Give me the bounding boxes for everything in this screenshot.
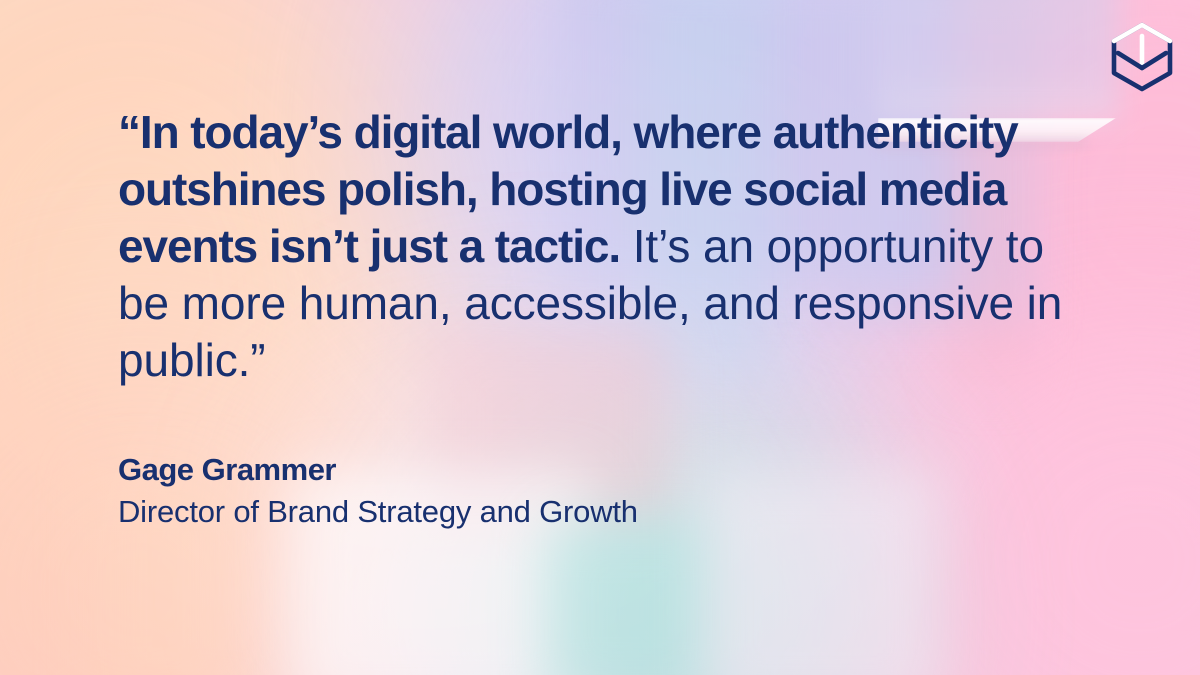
quote-open-mark: “ [118, 106, 140, 158]
card-content: “In today’s digital world, where authent… [0, 0, 1200, 675]
attribution-block: Gage Grammer Director of Brand Strategy … [118, 451, 1200, 533]
author-role: Director of Brand Strategy and Growth [118, 491, 1200, 533]
hexagon-cube-logo-icon [1110, 22, 1174, 92]
quote-close-mark: ” [250, 334, 265, 386]
quote-card: “In today’s digital world, where authent… [0, 0, 1200, 675]
author-name: Gage Grammer [118, 451, 1200, 489]
quote-text: “In today’s digital world, where authent… [118, 104, 1063, 389]
